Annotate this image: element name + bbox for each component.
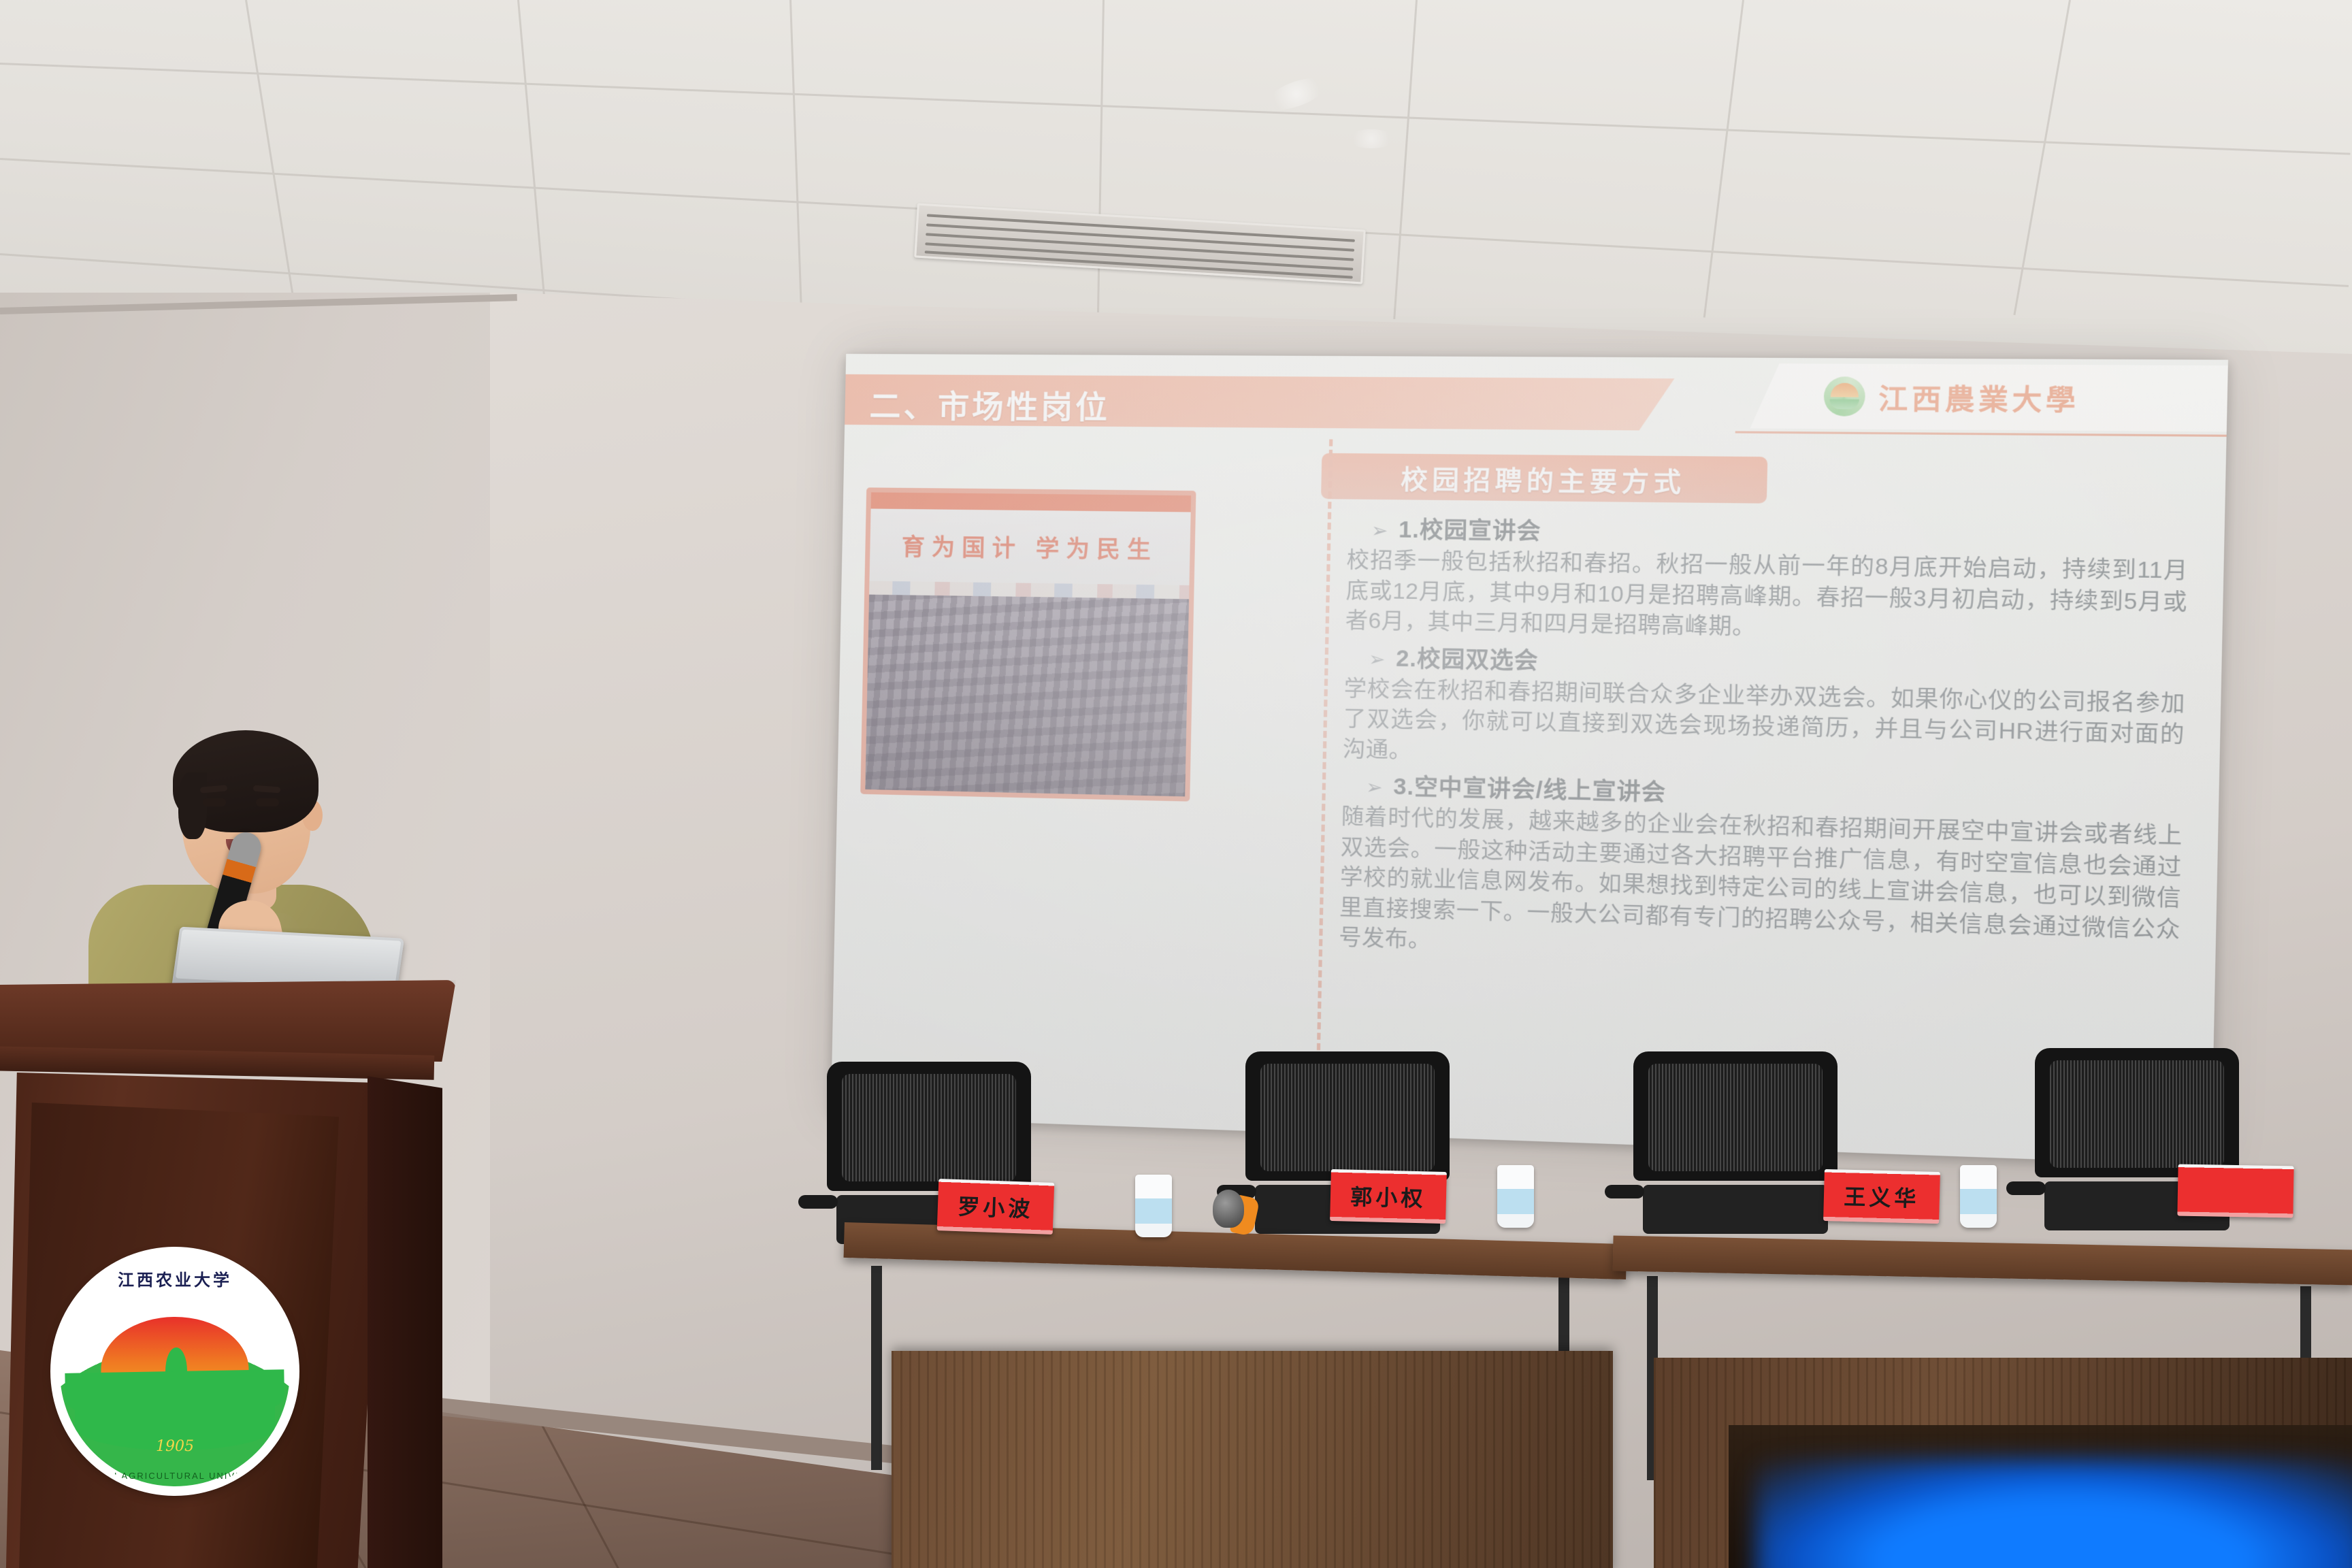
slide-block-3: ➢3.空中宣讲会/线上宣讲会 随着时代的发展，越来越多的企业会在秋招和春招期间开…: [1339, 767, 2184, 977]
chair-mesh: [842, 1074, 1016, 1181]
slide-brand-logo: 江西農業大學: [1750, 363, 2228, 431]
chair-mesh: [1260, 1064, 1435, 1171]
nameplate-text: 罗小波: [958, 1190, 1034, 1224]
nameplate: 王义华: [1823, 1169, 1940, 1224]
nameplate-text: 王义华: [1844, 1180, 1920, 1213]
jxau-sun-leaf-logo-icon: [1823, 376, 1865, 416]
chair-armrest: [1605, 1185, 1644, 1198]
chair-mesh: [2050, 1060, 2224, 1168]
mic-head: [1213, 1190, 1244, 1228]
slide-university-name: 江西農業大學: [1878, 376, 2080, 419]
nameplate: [2177, 1164, 2293, 1218]
desk-microphone-icon: [1210, 1190, 1258, 1235]
chair-armrest: [2006, 1181, 2046, 1195]
slide-subtitle-3-text: 3.空中宣讲会/线上宣讲会: [1393, 773, 1666, 805]
jxau-crest-icon: 江西农业大学 1905 JIANGXI AGRICULTURAL UNIVERS…: [56, 1252, 294, 1490]
nameplate: 郭小权: [1330, 1169, 1447, 1224]
slide-block-2: ➢2.校园双选会 学校会在秋招和春招期间联合众多企业举办双选会。如果你心仪的公司…: [1343, 638, 2187, 781]
chair-back: [2035, 1048, 2239, 1177]
photo-banner-slogan: 育为国计 学为民生: [870, 527, 1190, 565]
slide-paragraph-3: 随着时代的发展，越来越多的企业会在秋招和春招期间开展空中宣讲会或者线上双选会。一…: [1339, 802, 2183, 977]
crest-founded-year: 1905: [56, 1438, 294, 1455]
chair-back: [1245, 1051, 1450, 1181]
projection-screen: 二、市场性岗位 江西農業大學 校园招聘的主要方式 育为国计 学为民生 ➢1.校园…: [831, 354, 2228, 1166]
chair-seat: [1643, 1185, 1828, 1234]
table-leg: [871, 1266, 882, 1470]
slide-heading-pill: 校园招聘的主要方式: [1321, 453, 1767, 504]
job-fair-crowd-photo: 育为国计 学为民生: [860, 487, 1196, 801]
crest-name-cn: 江西农业大学: [56, 1267, 294, 1290]
bullet-arrow-icon: ➢: [1369, 648, 1386, 670]
lecture-hall-scene: 二、市场性岗位 江西農業大學 校园招聘的主要方式 育为国计 学为民生 ➢1.校园…: [0, 0, 2352, 1568]
presenter-eye-right: [256, 798, 279, 806]
nameplate-text: 郭小权: [1350, 1180, 1426, 1213]
slide-subtitle-1-text: 1.校园宣讲会: [1399, 517, 1541, 544]
slide-header-rule: [1735, 431, 2227, 436]
nameplate: 罗小波: [937, 1179, 1055, 1235]
slide-subtitle-2-text: 2.校园双选会: [1396, 645, 1539, 673]
front-desk-left: [892, 1351, 1613, 1568]
chair-back: [827, 1062, 1031, 1191]
photo-crowd: [865, 595, 1189, 802]
slide-paragraph-1: 校招季一般包括秋招和春招。秋招一般从前一年的8月底开始启动，持续到11月底或12…: [1345, 545, 2188, 649]
slide-dashed-divider: [1316, 439, 1333, 1071]
slide-body: ➢1.校园宣讲会 校招季一般包括秋招和春招。秋招一般从前一年的8月底开始启动，持…: [1339, 508, 2189, 979]
slide-block-1: ➢1.校园宣讲会 校招季一般包括秋招和春招。秋招一般从前一年的8月底开始启动，持…: [1345, 510, 2189, 649]
crest-name-en: JIANGXI AGRICULTURAL UNIVERSITY: [56, 1471, 294, 1481]
chair-back: [1633, 1051, 1837, 1181]
presenter-eye-left: [203, 798, 226, 806]
bullet-arrow-icon: ➢: [1366, 777, 1384, 798]
bullet-arrow-icon: ➢: [1371, 520, 1389, 542]
blue-light-glow: [1756, 1459, 2352, 1568]
presenter-hair: [173, 730, 318, 832]
chair-armrest: [798, 1195, 838, 1209]
podium-side: [367, 1076, 442, 1568]
paper-cup-icon: [1497, 1165, 1534, 1228]
mesh-office-chair: [1633, 1051, 1837, 1235]
paper-cup-icon: [1960, 1165, 1997, 1228]
paper-cup-icon: [1135, 1175, 1172, 1237]
chair-mesh: [1648, 1064, 1823, 1171]
slide-heading-text: 校园招聘的主要方式: [1401, 457, 1686, 498]
slide-paragraph-2: 学校会在秋招和春招期间联合众多企业举办双选会。如果你心仪的公司报名参加了双选会，…: [1343, 673, 2186, 781]
slide-section-title: 二、市场性岗位: [869, 381, 1111, 428]
wood-grain: [892, 1351, 1613, 1568]
